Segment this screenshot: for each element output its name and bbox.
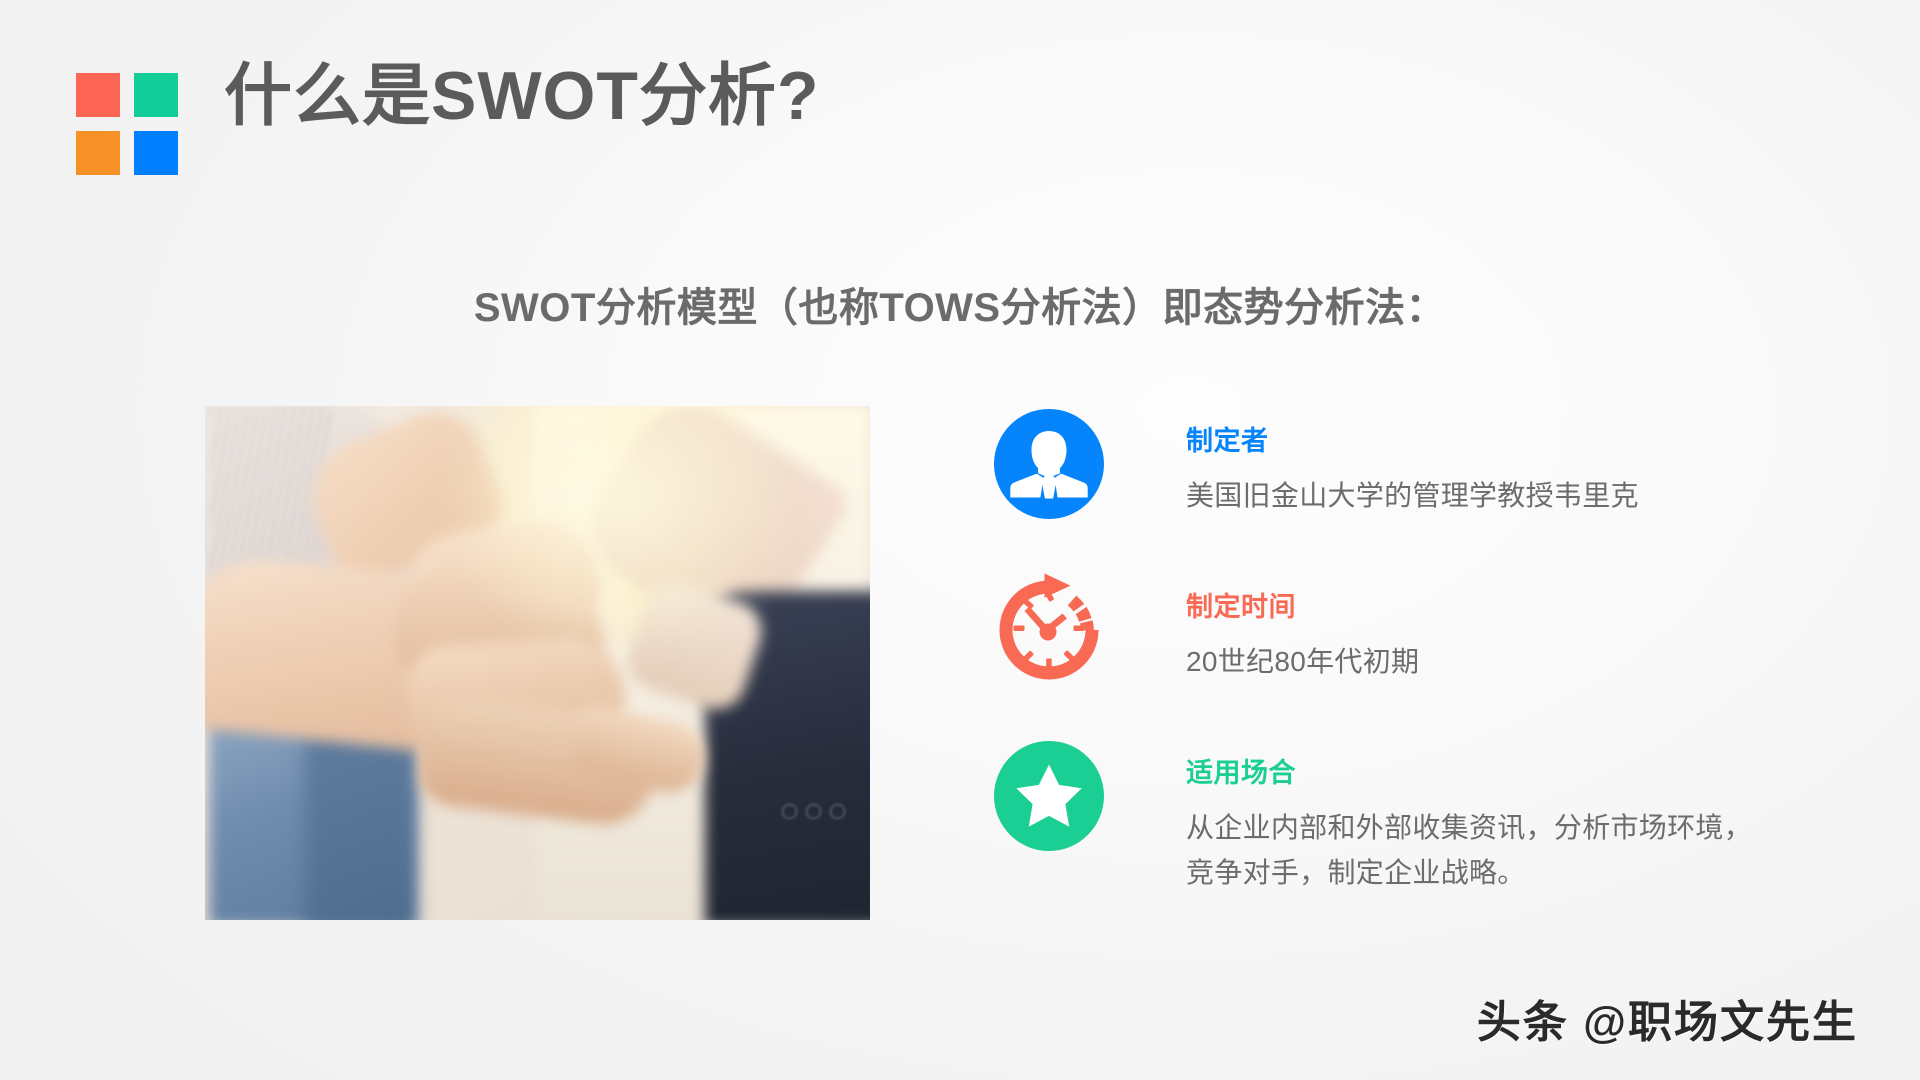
feature-heading: 制定者 [1186, 419, 1639, 458]
feature-body: 制定者 美国旧金山大学的管理学教授韦里克 [1186, 405, 1639, 519]
photo-jeans-shadow [305, 724, 415, 920]
feature-text-line: 美国旧金山大学的管理学教授韦里克 [1186, 474, 1639, 519]
person-icon [990, 405, 1108, 523]
feature-text: 20世纪80年代初期 [1186, 640, 1419, 685]
feature-text-line: 20世纪80年代初期 [1186, 640, 1419, 685]
feature-text-line: 从企业内部和外部收集资讯，分析市场环境， [1186, 806, 1752, 851]
feature-body: 适用场合 从企业内部和外部收集资讯，分析市场环境， 竞争对手，制定企业战略。 [1186, 737, 1752, 896]
feature-item-scenario: 适用场合 从企业内部和外部收集资讯，分析市场环境， 竞争对手，制定企业战略。 [990, 737, 1870, 896]
feature-heading: 适用场合 [1186, 751, 1752, 790]
logo-square-blue [134, 131, 178, 175]
logo-square-red [76, 73, 120, 117]
clock-arrow-icon [990, 571, 1108, 689]
feature-list: 制定者 美国旧金山大学的管理学教授韦里克 [990, 405, 1870, 896]
slide-subtitle: SWOT分析模型（也称TOWS分析法）即态势分析法： [0, 275, 1920, 333]
slide-root: 什么是SWOT分析? SWOT分析模型（也称TOWS分析法）即态势分析法： [0, 0, 1920, 1080]
page-title: 什么是SWOT分析? [224, 54, 820, 139]
watermark: 头条 @职场文先生 [1477, 986, 1858, 1050]
photo-scene [205, 406, 870, 920]
feature-heading: 制定时间 [1186, 585, 1419, 624]
feature-item-date: 制定时间 20世纪80年代初期 [990, 571, 1870, 689]
star-icon [990, 737, 1108, 855]
feature-text-line: 竞争对手，制定企业战略。 [1186, 851, 1752, 896]
photo-sleeve-buttons [782, 804, 845, 819]
logo-square-orange [76, 131, 120, 175]
feature-text: 从企业内部和外部收集资讯，分析市场环境， 竞争对手，制定企业战略。 [1186, 806, 1752, 896]
photo-sun-glow [455, 406, 785, 646]
teamwork-hands-photo [205, 406, 870, 920]
logo-square-green [134, 73, 178, 117]
feature-item-founder: 制定者 美国旧金山大学的管理学教授韦里克 [990, 405, 1870, 523]
feature-body: 制定时间 20世纪80年代初期 [1186, 571, 1419, 685]
feature-text: 美国旧金山大学的管理学教授韦里克 [1186, 474, 1639, 519]
four-square-logo [76, 73, 178, 175]
